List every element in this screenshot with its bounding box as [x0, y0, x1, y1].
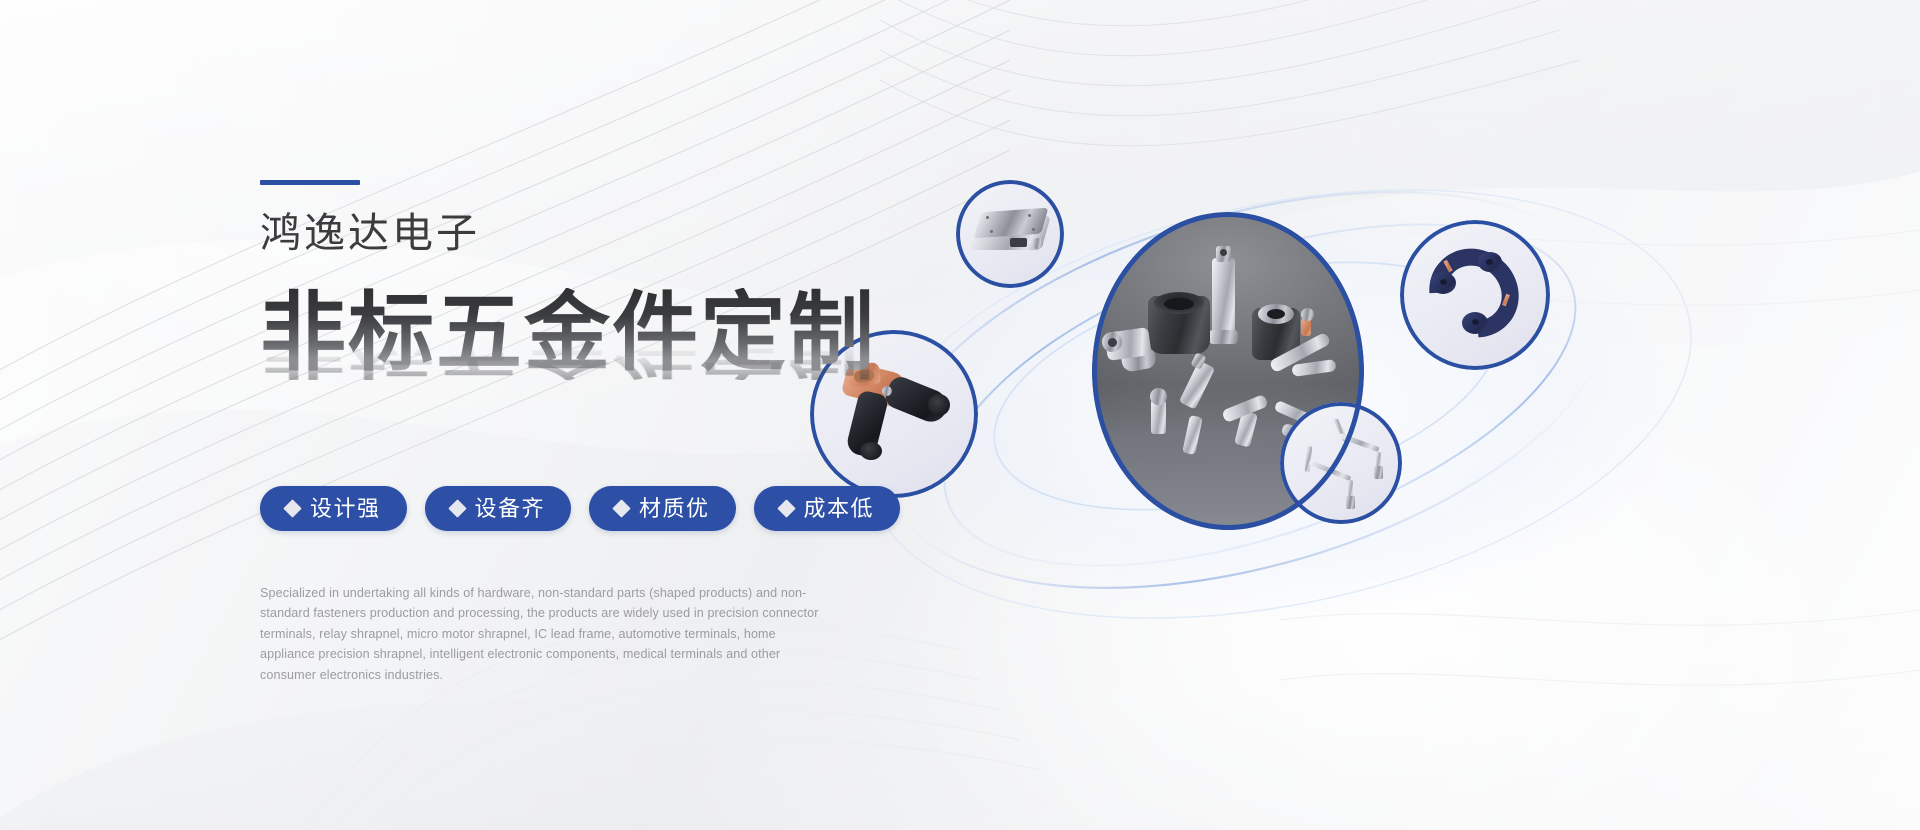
feature-pill-label: 成本低	[804, 498, 875, 520]
diamond-icon	[283, 499, 301, 517]
diamond-icon	[448, 499, 466, 517]
hero-banner: 鸿逸达电子 非标五金件定制 非标五金件定制 设计强 设备齐 材质优 成本低	[0, 0, 1920, 830]
feature-pill-label: 设备齐	[475, 498, 546, 520]
feature-pill-design[interactable]: 设计强	[260, 486, 407, 531]
diamond-icon	[777, 499, 795, 517]
diamond-icon	[612, 499, 630, 517]
accent-bar	[260, 180, 360, 185]
feature-pill-equipment[interactable]: 设备齐	[425, 486, 572, 531]
feature-pill-list: 设计强 设备齐 材质优 成本低	[260, 486, 960, 531]
orbit-arcs	[930, 190, 1830, 620]
feature-pill-label: 设计强	[310, 498, 381, 520]
hero-content: 鸿逸达电子 非标五金件定制 非标五金件定制 设计强 设备齐 材质优 成本低	[260, 180, 960, 685]
product-node-enclosure[interactable]	[956, 180, 1064, 288]
bent-metal-terminal-pins-photo	[1280, 402, 1402, 524]
brand-name: 鸿逸达电子	[260, 213, 960, 254]
description-paragraph: Specialized in undertaking all kinds of …	[260, 583, 828, 685]
product-node-terminal-pins[interactable]	[1280, 402, 1402, 524]
feature-pill-material[interactable]: 材质优	[589, 486, 736, 531]
feature-pill-cost[interactable]: 成本低	[754, 486, 901, 531]
product-node-retaining-clip[interactable]	[1400, 220, 1550, 370]
headline-reflection: 非标五金件定制	[260, 329, 876, 380]
metal-shielding-enclosure-photo	[956, 180, 1064, 288]
navy-c-shaped-retaining-clip-photo	[1400, 220, 1550, 370]
headline-wrap: 非标五金件定制 非标五金件定制	[260, 288, 960, 420]
feature-pill-label: 材质优	[639, 498, 710, 520]
product-showcase	[930, 190, 1830, 620]
